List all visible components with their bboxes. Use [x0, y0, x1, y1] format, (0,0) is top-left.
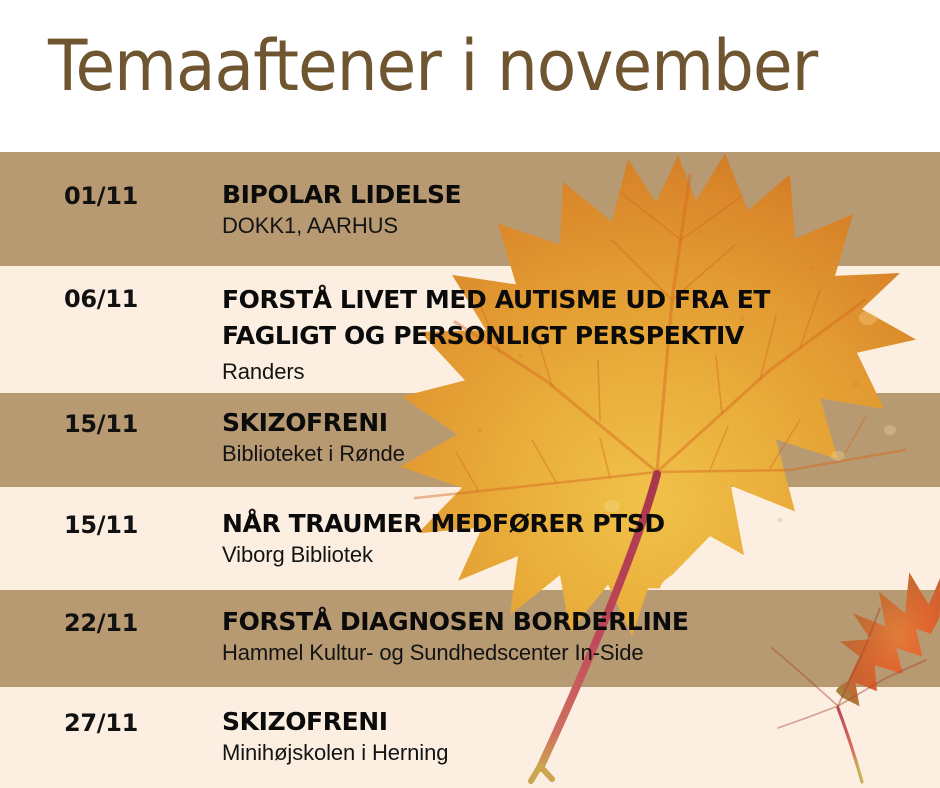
event-row-5[interactable]: 22/11 FORSTÅ DIAGNOSEN BORDERLINE Hammel… [0, 590, 940, 687]
event-row-2[interactable]: 06/11 FORSTÅ LIVET MED AUTISME UD FRA ET… [0, 266, 940, 393]
event-row-3[interactable]: 15/11 SKIZOFRENI Biblioteket i Rønde [0, 393, 940, 487]
event-venue: Minihøjskolen i Herning [222, 739, 930, 766]
event-title: SKIZOFRENI [222, 407, 930, 438]
event-title: FORSTÅ LIVET MED AUTISME UD FRA ET FAGLI… [222, 282, 822, 354]
event-date: 01/11 [64, 182, 138, 210]
event-title: NÅR TRAUMER MEDFØRER PTSD [222, 508, 930, 539]
event-date: 22/11 [64, 609, 138, 637]
page-title: Temaaftener i november [48, 26, 817, 106]
event-title: BIPOLAR LIDELSE [222, 179, 930, 210]
event-body: NÅR TRAUMER MEDFØRER PTSD Viborg Bibliot… [222, 508, 930, 568]
event-body: BIPOLAR LIDELSE DOKK1, AARHUS [222, 179, 930, 239]
event-title: FORSTÅ DIAGNOSEN BORDERLINE [222, 606, 930, 637]
event-row-6[interactable]: 27/11 SKIZOFRENI Minihøjskolen i Herning [0, 687, 940, 788]
title-banner: Temaaftener i november [0, 0, 940, 152]
event-venue: Hammel Kultur- og Sundhedscenter In-Side [222, 639, 930, 666]
event-venue: Biblioteket i Rønde [222, 440, 930, 467]
event-body: SKIZOFRENI Minihøjskolen i Herning [222, 706, 930, 766]
event-date: 15/11 [64, 410, 138, 438]
event-venue: Randers [222, 358, 822, 385]
event-date: 06/11 [64, 285, 138, 313]
event-body: FORSTÅ LIVET MED AUTISME UD FRA ET FAGLI… [222, 282, 822, 385]
event-date: 27/11 [64, 709, 138, 737]
event-venue: Viborg Bibliotek [222, 541, 930, 568]
event-body: SKIZOFRENI Biblioteket i Rønde [222, 407, 930, 467]
event-date: 15/11 [64, 511, 138, 539]
event-row-1[interactable]: 01/11 BIPOLAR LIDELSE DOKK1, AARHUS [0, 152, 940, 266]
event-title: SKIZOFRENI [222, 706, 930, 737]
event-venue: DOKK1, AARHUS [222, 212, 930, 239]
poster-canvas: Temaaftener i november 01/11 BIPOLAR LID… [0, 0, 940, 788]
event-body: FORSTÅ DIAGNOSEN BORDERLINE Hammel Kultu… [222, 606, 930, 666]
event-row-4[interactable]: 15/11 NÅR TRAUMER MEDFØRER PTSD Viborg B… [0, 487, 940, 590]
